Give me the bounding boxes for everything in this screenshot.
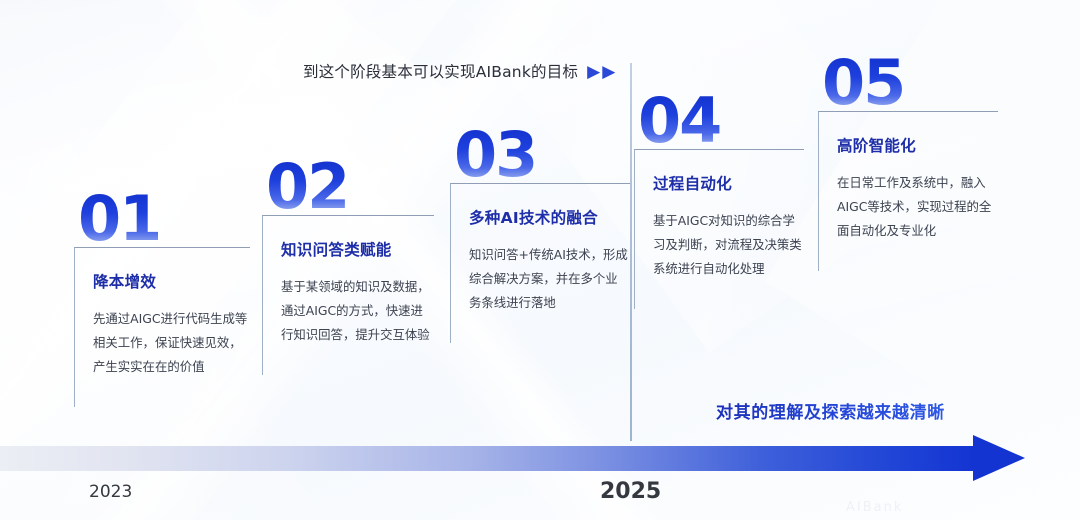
stage-panel-01: 降本增效 先通过AIGC进行代码生成等相关工作，保证快速见效，产生实实在在的价值 <box>74 247 250 407</box>
milestone-divider-line <box>630 63 632 441</box>
stage-card-04[interactable]: 04 过程自动化 基于AIGC对知识的综合学习及判断，对流程及决策类系统进行自动… <box>634 94 804 309</box>
timeline-bar <box>0 446 975 471</box>
stage-panel-03: 多种AI技术的融合 知识问答+传统AI技术，形成综合解决方案，并在多个业务条线进… <box>450 183 630 343</box>
top-annotation-text: 到这个阶段基本可以实现AIBank的目标 <box>303 60 578 82</box>
stage-body-01: 先通过AIGC进行代码生成等相关工作，保证快速见效，产生实实在在的价值 <box>93 307 250 380</box>
double-chevron-right-icon: ▶ ▶ <box>587 63 615 80</box>
stage-body-04: 基于AIGC对知识的综合学习及判断，对流程及决策类系统进行自动化处理 <box>653 209 804 282</box>
timeline-year-mid: 2025 <box>600 479 661 504</box>
watermark-text: AIBank <box>846 500 903 515</box>
stage-panel-02: 知识问答类赋能 基于某领域的知识及数据，通过AIGC的方式，快速进行知识回答，提… <box>262 215 434 375</box>
stage-body-03: 知识问答+传统AI技术，形成综合解决方案，并在多个业务条线进行落地 <box>469 243 630 316</box>
chevron-right-icon-1: ▶ <box>587 63 600 80</box>
slide-canvas: 到这个阶段基本可以实现AIBank的目标 ▶ ▶ 01 降本增效 先通过AIGC… <box>0 0 1080 520</box>
stage-card-01[interactable]: 01 降本增效 先通过AIGC进行代码生成等相关工作，保证快速见效，产生实实在在… <box>74 192 250 407</box>
stage-title-01: 降本增效 <box>93 270 250 292</box>
stage-card-05[interactable]: 05 高阶智能化 在日常工作及系统中，融入AIGC等技术，实现过程的全面自动化及… <box>818 56 998 271</box>
stage-title-02: 知识问答类赋能 <box>281 238 434 260</box>
stage-number-01: 01 <box>78 192 160 247</box>
stage-body-05: 在日常工作及系统中，融入AIGC等技术，实现过程的全面自动化及专业化 <box>837 171 998 244</box>
stage-number-02: 02 <box>266 160 348 215</box>
stage-number-04: 04 <box>638 94 720 149</box>
stage-number-03: 03 <box>454 128 536 183</box>
stage-panel-04: 过程自动化 基于AIGC对知识的综合学习及判断，对流程及决策类系统进行自动化处理 <box>634 149 804 309</box>
stage-card-03[interactable]: 03 多种AI技术的融合 知识问答+传统AI技术，形成综合解决方案，并在多个业务… <box>450 128 630 343</box>
top-annotation: 到这个阶段基本可以实现AIBank的目标 ▶ ▶ <box>303 60 615 82</box>
timeline-arrow-head-icon <box>973 435 1025 481</box>
timeline: 2023 2025 <box>0 440 1080 500</box>
stage-panel-05: 高阶智能化 在日常工作及系统中，融入AIGC等技术，实现过程的全面自动化及专业化 <box>818 111 998 271</box>
timeline-year-start: 2023 <box>89 482 132 502</box>
stage-title-04: 过程自动化 <box>653 172 804 194</box>
stage-number-05: 05 <box>822 56 904 111</box>
bottom-caption: 对其的理解及探索越来越清晰 <box>716 398 945 423</box>
stage-title-05: 高阶智能化 <box>837 134 998 156</box>
stage-card-02[interactable]: 02 知识问答类赋能 基于某领域的知识及数据，通过AIGC的方式，快速进行知识回… <box>262 160 434 375</box>
chevron-right-icon-2: ▶ <box>602 63 615 80</box>
stage-body-02: 基于某领域的知识及数据，通过AIGC的方式，快速进行知识回答，提升交互体验 <box>281 275 434 348</box>
stage-title-03: 多种AI技术的融合 <box>469 206 630 228</box>
